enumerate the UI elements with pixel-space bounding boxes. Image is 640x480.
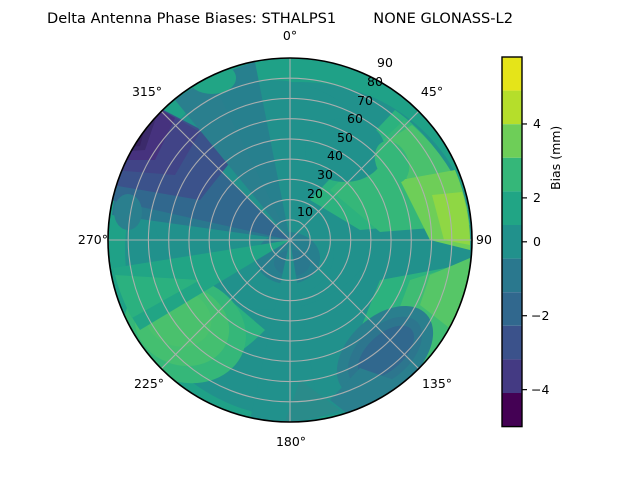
colorbar-axis-label: Bias (mm) bbox=[548, 60, 563, 190]
colorbar-tick-0: 0 bbox=[533, 234, 541, 249]
figure-canvas: Delta Antenna Phase Biases: STHALPS1 NON… bbox=[0, 0, 640, 480]
angular-tick-45: 45° bbox=[407, 84, 457, 99]
radial-tick-40: 40 bbox=[320, 148, 350, 163]
colorbar-ticks bbox=[522, 124, 527, 390]
radial-tick-80: 80 bbox=[360, 74, 390, 89]
colorbar-swatches bbox=[502, 57, 522, 427]
colorbar-tick-2: 2 bbox=[533, 190, 541, 205]
contour-nnw-nub bbox=[188, 62, 236, 94]
polar-grid bbox=[108, 58, 472, 422]
angular-tick-135: 135° bbox=[410, 376, 464, 391]
colorbar-tick-4: 4 bbox=[533, 116, 541, 131]
radial-tick-50: 50 bbox=[330, 130, 360, 145]
radial-tick-90: 90 bbox=[370, 55, 400, 70]
colorbar-tick-neg2: −2 bbox=[531, 308, 549, 323]
radial-tick-30: 30 bbox=[310, 167, 340, 182]
radial-tick-70: 70 bbox=[350, 93, 380, 108]
angular-tick-315: 315° bbox=[120, 84, 174, 99]
radial-tick-20: 20 bbox=[300, 186, 330, 201]
radial-tick-10: 10 bbox=[290, 204, 320, 219]
colorbar-tick-neg4: −4 bbox=[531, 382, 549, 397]
contour-w-nub bbox=[114, 194, 142, 230]
angular-tick-180: 180° bbox=[266, 434, 316, 449]
radial-tick-60: 60 bbox=[340, 111, 370, 126]
angular-tick-225: 225° bbox=[122, 376, 176, 391]
angular-tick-270: 270° bbox=[58, 232, 108, 247]
angular-tick-0: 0° bbox=[268, 28, 312, 43]
